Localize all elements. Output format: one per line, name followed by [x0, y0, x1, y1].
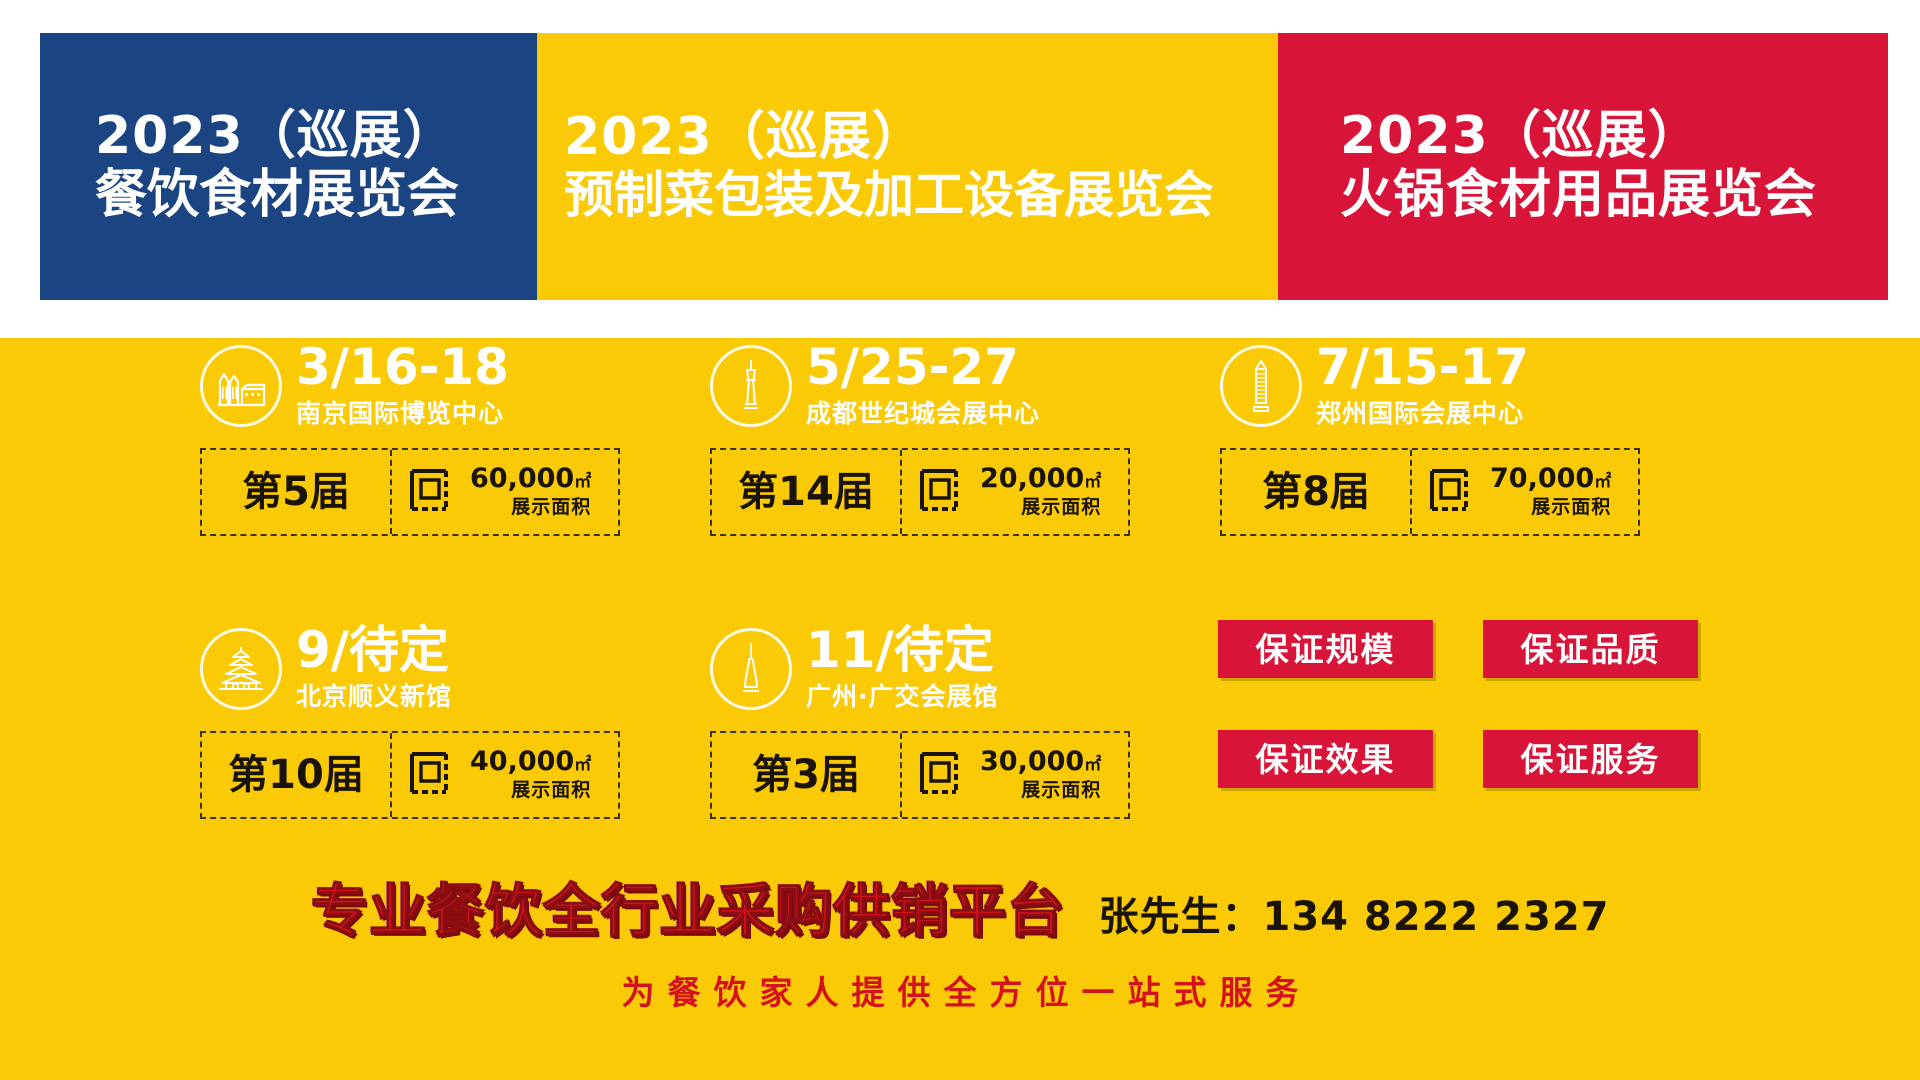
exhibition-area-icon: [408, 465, 458, 519]
event-area-value-row: 60,000㎡: [470, 465, 591, 493]
event-area-value-row: 30,000㎡: [980, 748, 1101, 776]
event-date: 11/待定: [806, 625, 999, 675]
event-card-headtext: 7/15-17 郑州国际会展中心: [1316, 342, 1529, 429]
footer-slogan: 专业餐饮全行业采购供销平台: [310, 883, 1064, 940]
event-area: 20,000㎡ 展示面积: [902, 450, 1128, 534]
event-edition: 第3届: [712, 733, 902, 817]
event-stats-badge: 第5届 60,000: [200, 448, 620, 536]
nanjing-building-icon: [200, 345, 282, 427]
event-card-headtext: 3/16-18 南京国际博览中心: [296, 342, 509, 429]
event-card-headtext: 9/待定 北京顺义新馆: [296, 625, 452, 712]
event-area-value: 70,000: [1490, 463, 1594, 494]
zhengzhou-pagoda-icon: [1220, 345, 1302, 427]
poster-body: 3/16-18 南京国际博览中心 第5届: [0, 338, 1920, 1080]
event-area-text: 70,000㎡ 展示面积: [1490, 465, 1611, 518]
event-area-value: 30,000: [980, 746, 1084, 777]
banner-panel-prepared-dishes: 2023（巡展） 预制菜包装及加工设备展览会: [537, 33, 1278, 300]
event-area-text: 30,000㎡ 展示面积: [980, 748, 1101, 801]
event-area-unit: ㎡: [1594, 472, 1611, 492]
event-card-header: 7/15-17 郑州国际会展中心: [1220, 338, 1640, 434]
exhibition-area-icon: [1428, 465, 1478, 519]
event-date: 7/15-17: [1316, 342, 1529, 392]
event-card: 7/15-17 郑州国际会展中心 第8届: [1220, 338, 1640, 536]
event-card: 5/25-27 成都世纪城会展中心 第14届: [710, 338, 1130, 536]
guarantee-badge-service: 保证服务: [1483, 730, 1698, 788]
event-area-unit: ㎡: [574, 755, 591, 775]
event-area-text: 60,000㎡ 展示面积: [470, 465, 591, 518]
event-area-label: 展示面积: [1490, 496, 1611, 519]
event-area-value-row: 20,000㎡: [980, 465, 1101, 493]
event-edition-label: 第5届: [242, 472, 350, 512]
event-venue: 北京顺义新馆: [296, 681, 452, 712]
footer-main-row: 专业餐饮全行业采购供销平台 张先生：134 8222 2327: [0, 883, 1920, 940]
event-card: 11/待定 广州·广交会展馆 第3届: [710, 621, 1130, 819]
banner-panel-year: 2023（巡展）: [1340, 107, 1888, 165]
event-area-value-row: 70,000㎡: [1490, 465, 1611, 493]
event-card-header: 11/待定 广州·广交会展馆: [710, 621, 1130, 717]
event-edition: 第8届: [1222, 450, 1412, 534]
event-card-header: 9/待定 北京顺义新馆: [200, 621, 620, 717]
event-edition: 第5届: [202, 450, 392, 534]
guarantee-badge-scale: 保证规模: [1218, 620, 1433, 678]
banner-panel-title: 火锅食材用品展览会: [1340, 165, 1888, 226]
banner-panel-title: 餐饮食材展览会: [95, 165, 537, 226]
promo-poster: 2023（巡展） 餐饮食材展览会 2023（巡展） 预制菜包装及加工设备展览会 …: [0, 0, 1920, 1080]
event-area-label: 展示面积: [470, 496, 591, 519]
event-edition-label: 第3届: [752, 755, 860, 795]
event-area-value-row: 40,000㎡: [470, 748, 591, 776]
guarantee-badge-effect: 保证效果: [1218, 730, 1433, 788]
exhibition-area-icon: [918, 465, 968, 519]
event-venue: 南京国际博览中心: [296, 398, 509, 429]
guarantee-badge-label: 保证品质: [1521, 633, 1661, 666]
event-stats-badge: 第3届 30,000: [710, 731, 1130, 819]
event-area-unit: ㎡: [1084, 755, 1101, 775]
event-area-label: 展示面积: [980, 496, 1101, 519]
poster-footer: 专业餐饮全行业采购供销平台 张先生：134 8222 2327 为餐饮家人提供全…: [0, 883, 1920, 1009]
event-area: 40,000㎡ 展示面积: [392, 733, 618, 817]
event-stats-badge: 第10届 40,00: [200, 731, 620, 819]
event-stats-badge: 第8届 70,000: [1220, 448, 1640, 536]
event-card-grid: 3/16-18 南京国际博览中心 第5届: [0, 338, 1920, 868]
event-area-label: 展示面积: [470, 779, 591, 802]
event-card: 3/16-18 南京国际博览中心 第5届: [200, 338, 620, 536]
event-card-headtext: 5/25-27 成都世纪城会展中心: [806, 342, 1040, 429]
beijing-temple-icon: [200, 628, 282, 710]
event-venue: 郑州国际会展中心: [1316, 398, 1529, 429]
exhibition-area-icon: [918, 748, 968, 802]
event-card-header: 5/25-27 成都世纪城会展中心: [710, 338, 1130, 434]
guarantee-badge-label: 保证规模: [1256, 633, 1396, 666]
guarantee-badge-group: 保证规模 保证品质 保证效果 保证服务: [1218, 620, 1738, 788]
event-date: 5/25-27: [806, 342, 1040, 392]
guarantee-badge-label: 保证服务: [1521, 743, 1661, 776]
event-area-unit: ㎡: [574, 472, 591, 492]
footer-contact: 张先生：134 8222 2327: [1098, 897, 1609, 937]
event-venue: 广州·广交会展馆: [806, 681, 999, 712]
banner-panel-title: 预制菜包装及加工设备展览会: [564, 166, 1278, 225]
event-card-header: 3/16-18 南京国际博览中心: [200, 338, 620, 434]
event-edition-label: 第10届: [228, 755, 364, 795]
event-area-value: 40,000: [470, 746, 574, 777]
event-area-unit: ㎡: [1084, 472, 1101, 492]
chengdu-tower-icon: [710, 345, 792, 427]
exhibition-banner: 2023（巡展） 餐饮食材展览会 2023（巡展） 预制菜包装及加工设备展览会 …: [40, 33, 1888, 300]
event-area-value: 20,000: [980, 463, 1084, 494]
event-area: 30,000㎡ 展示面积: [902, 733, 1128, 817]
banner-panel-year: 2023（巡展）: [95, 107, 537, 165]
banner-panel-catering-ingredients: 2023（巡展） 餐饮食材展览会: [40, 33, 537, 300]
guarantee-badge-label: 保证效果: [1256, 743, 1396, 776]
exhibition-area-icon: [408, 748, 458, 802]
footer-tagline: 为餐饮家人提供全方位一站式服务: [0, 976, 1920, 1009]
event-card: 9/待定 北京顺义新馆 第10届: [200, 621, 620, 819]
banner-panel-hotpot-supplies: 2023（巡展） 火锅食材用品展览会: [1278, 33, 1888, 300]
event-area: 60,000㎡ 展示面积: [392, 450, 618, 534]
guarantee-badge-quality: 保证品质: [1483, 620, 1698, 678]
event-stats-badge: 第14届 20,00: [710, 448, 1130, 536]
event-edition: 第14届: [712, 450, 902, 534]
event-card-headtext: 11/待定 广州·广交会展馆: [806, 625, 999, 712]
event-area: 70,000㎡ 展示面积: [1412, 450, 1638, 534]
event-edition: 第10届: [202, 733, 392, 817]
event-area-text: 40,000㎡ 展示面积: [470, 748, 591, 801]
banner-panel-year: 2023（巡展）: [564, 108, 1278, 166]
event-date: 9/待定: [296, 625, 452, 675]
guangzhou-tower-icon: [710, 628, 792, 710]
event-date: 3/16-18: [296, 342, 509, 392]
event-area-text: 20,000㎡ 展示面积: [980, 465, 1101, 518]
event-area-value: 60,000: [470, 463, 574, 494]
event-edition-label: 第8届: [1262, 472, 1370, 512]
event-area-label: 展示面积: [980, 779, 1101, 802]
event-venue: 成都世纪城会展中心: [806, 398, 1040, 429]
event-edition-label: 第14届: [738, 472, 874, 512]
